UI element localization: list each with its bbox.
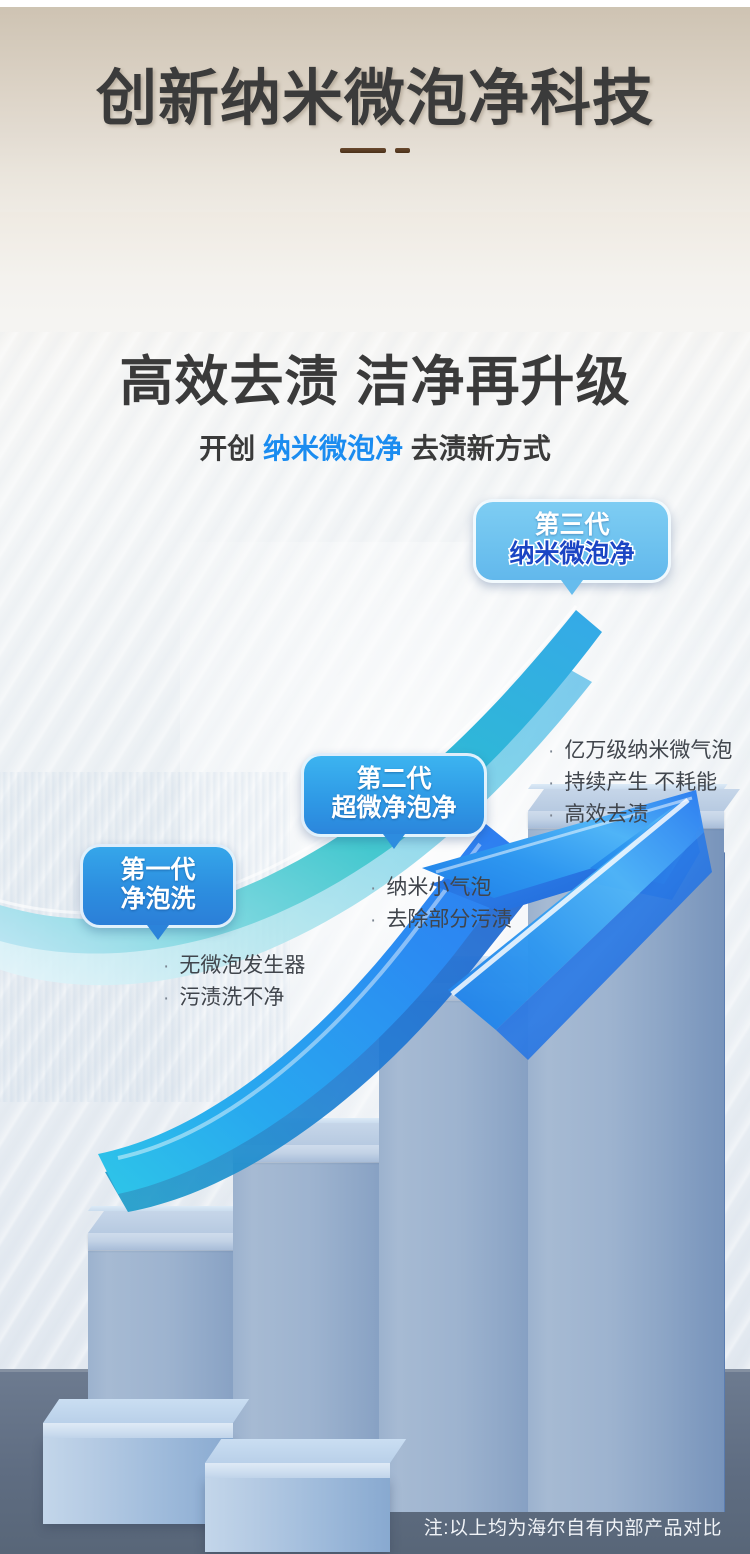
bullet-dot-icon: · bbox=[548, 802, 554, 831]
badge-gen3-line2: 纳米微泡净 bbox=[496, 540, 648, 569]
badge-gen3-line1: 第三代 bbox=[496, 511, 648, 540]
banner-title: 创新纳米微泡净科技 bbox=[0, 48, 750, 137]
plinth-right bbox=[205, 1456, 390, 1552]
dash-long-icon bbox=[340, 148, 386, 153]
bullet-dot-icon: · bbox=[163, 985, 169, 1014]
page-title: 高效去渍 洁净再升级 bbox=[0, 337, 750, 416]
feature-text: 去除部分污渍 bbox=[386, 904, 512, 936]
infographic-page: 创新纳米微泡净科技 高效去渍 洁净再升级 开创 纳米微泡净 去渍新方式 bbox=[0, 0, 750, 1554]
feature-item: · 污渍洗不净 bbox=[163, 982, 305, 1014]
badge-gen2-line1: 第二代 bbox=[324, 765, 464, 794]
badge-gen3[interactable]: 第三代 纳米微泡净 bbox=[473, 499, 671, 583]
badge-gen1-line1: 第一代 bbox=[103, 856, 213, 885]
top-banner: 创新纳米微泡净科技 bbox=[0, 0, 750, 212]
feature-item: · 无微泡发生器 bbox=[163, 950, 305, 982]
bullet-dot-icon: · bbox=[370, 907, 376, 936]
features-gen3: · 亿万级纳米微气泡 · 持续产生 不耗能 · 高效去渍 bbox=[548, 735, 732, 831]
page-subtitle: 开创 纳米微泡净 去渍新方式 bbox=[0, 427, 750, 467]
feature-item: · 高效去渍 bbox=[548, 799, 732, 831]
bullet-dot-icon: · bbox=[163, 953, 169, 982]
subtitle-suffix: 去渍新方式 bbox=[411, 433, 551, 464]
bar-gen4 bbox=[528, 828, 724, 1512]
bullet-dot-icon: · bbox=[370, 875, 376, 904]
badge-gen2-tail-icon bbox=[383, 834, 405, 849]
bullet-dot-icon: · bbox=[548, 738, 554, 767]
feature-item: · 亿万级纳米微气泡 bbox=[548, 735, 732, 767]
feature-item: · 纳米小气泡 bbox=[370, 872, 512, 904]
badge-gen1-tail-icon bbox=[147, 925, 169, 940]
main-scene: 高效去渍 洁净再升级 开创 纳米微泡净 去渍新方式 bbox=[0, 212, 750, 1554]
dash-divider-icon bbox=[0, 148, 750, 153]
subtitle-prefix: 开创 bbox=[199, 433, 255, 464]
subtitle-accent: 纳米微泡净 bbox=[263, 433, 403, 464]
dash-short-icon bbox=[395, 148, 410, 153]
badge-gen1[interactable]: 第一代 净泡洗 bbox=[80, 844, 236, 928]
badge-gen2[interactable]: 第二代 超微净泡净 bbox=[301, 753, 487, 837]
feature-text: 亿万级纳米微气泡 bbox=[564, 735, 732, 767]
feature-text: 纳米小气泡 bbox=[386, 872, 491, 904]
badge-gen3-tail-icon bbox=[561, 580, 583, 595]
features-gen1: · 无微泡发生器 · 污渍洗不净 bbox=[163, 950, 305, 1014]
feature-text: 无微泡发生器 bbox=[179, 950, 305, 982]
feature-text: 污渍洗不净 bbox=[179, 982, 284, 1014]
feature-text: 持续产生 不耗能 bbox=[564, 767, 717, 799]
features-gen2: · 纳米小气泡 · 去除部分污渍 bbox=[370, 872, 512, 936]
feature-item: · 持续产生 不耗能 bbox=[548, 767, 732, 799]
bullet-dot-icon: · bbox=[548, 770, 554, 799]
badge-gen2-line2: 超微净泡净 bbox=[324, 794, 464, 823]
feature-item: · 去除部分污渍 bbox=[370, 904, 512, 936]
feature-text: 高效去渍 bbox=[564, 799, 648, 831]
badge-gen1-line2: 净泡洗 bbox=[103, 885, 213, 914]
footnote: 注:以上均为海尔自有内部产品对比 bbox=[424, 1513, 722, 1540]
